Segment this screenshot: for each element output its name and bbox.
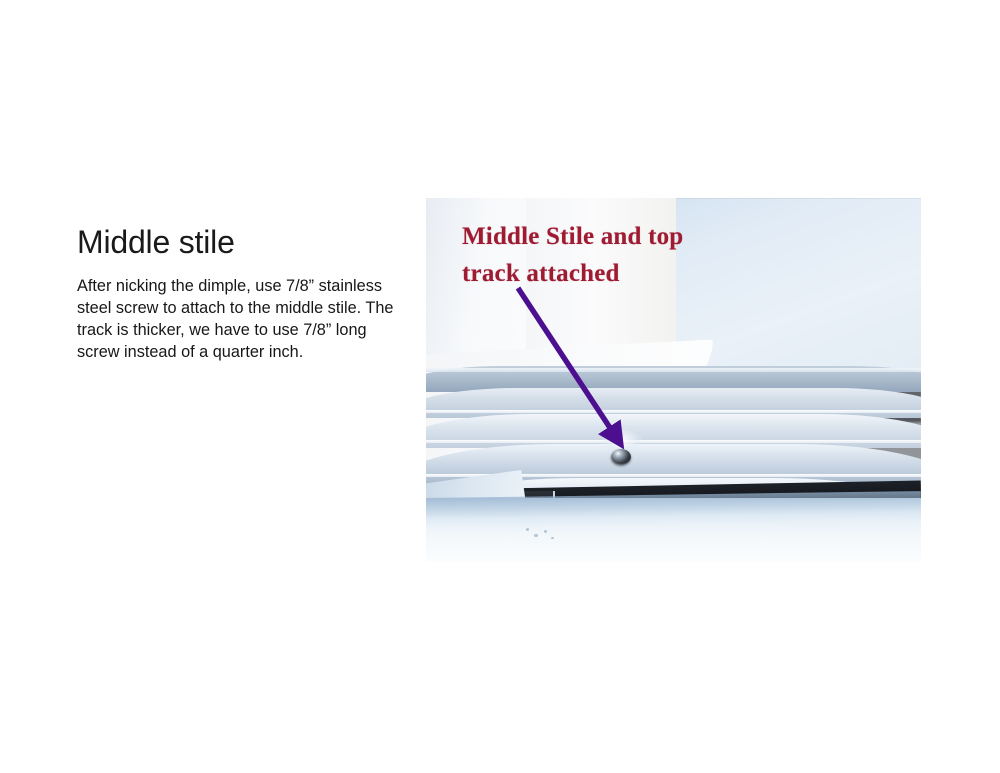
surface-speck (544, 530, 547, 533)
text-column: Middle stile After nicking the dimple, u… (77, 225, 407, 363)
page-title: Middle stile (77, 225, 407, 261)
slide-canvas: Middle stile After nicking the dimple, u… (0, 0, 1000, 773)
annotation-line-2: track attached (462, 255, 762, 292)
track-groove-1 (426, 410, 921, 413)
track-groove-2 (426, 440, 921, 443)
body-paragraph: After nicking the dimple, use 7/8” stain… (77, 275, 397, 363)
surface-speck (551, 537, 554, 539)
surface-speck (534, 534, 538, 537)
screw-head (611, 449, 631, 465)
annotation-line-1: Middle Stile and top (462, 218, 762, 255)
photo-annotation: Middle Stile and top track attached (462, 218, 762, 292)
surface-speck (526, 528, 529, 531)
track-band-1-highlight (426, 368, 921, 372)
instruction-photo: Middle Stile and top track attached (426, 198, 921, 562)
